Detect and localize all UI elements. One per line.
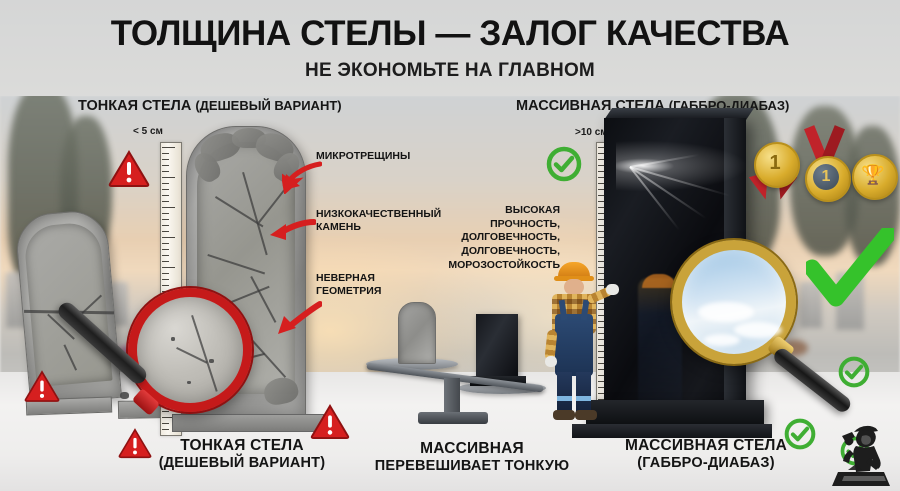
- ruler-tick: [162, 255, 169, 256]
- ruler-tick: [162, 423, 169, 424]
- mini-massive-monument: [476, 314, 518, 378]
- ruler-tick: [162, 237, 175, 238]
- scale-column: [444, 378, 460, 416]
- ruler-tick: [162, 249, 169, 250]
- boot: [553, 410, 575, 420]
- caption-right-line1: МАССИВНАЯ СТЕЛА: [578, 437, 834, 455]
- big-check-icon: [806, 228, 894, 314]
- balance-scale: [360, 300, 550, 430]
- left-heading-paren: (ДЕШЕВЫЙ ВАРИАНТ): [195, 98, 341, 113]
- arrow-icon: [276, 296, 322, 336]
- left-column-heading: ТОНКАЯ СТЕЛА (ДЕШЕВЫЙ ВАРИАНТ): [78, 98, 342, 114]
- caption-middle: МАССИВНАЯ ПЕРЕВЕШИВАЕТ ТОНКУЮ: [348, 440, 596, 474]
- medal-ribbon-number: 1: [813, 164, 839, 190]
- red-magnifier: [128, 288, 260, 420]
- caption-right: МАССИВНАЯ СТЕЛА (ГАББРО-ДИАБАЗ): [578, 437, 834, 471]
- ruler-tick: [162, 429, 169, 430]
- ruler-tick: [162, 177, 175, 178]
- benefits-text: ВЫСОКАЯ ПРОЧНОСТЬ, ДОЛГОВЕЧНОСТЬ, ДОЛГОВ…: [444, 204, 560, 272]
- arrow-icon: [282, 160, 322, 194]
- massive-monument-plinth: [572, 424, 772, 438]
- caption-left: ТОНКАЯ СТЕЛА (ДЕШЕВЫЙ ВАРИАНТ): [118, 437, 366, 471]
- award-medals: 1 1 🏆: [752, 140, 894, 214]
- warning-triangle-icon: [310, 404, 350, 440]
- defect-label-wrong-geometry: НЕВЕРНАЯ ГЕОМЕТРИЯ: [316, 272, 381, 299]
- warning-triangle-icon: [108, 150, 150, 188]
- ruler-tick: [162, 165, 169, 166]
- scale-foot: [418, 412, 488, 424]
- ruler-tick: [162, 195, 169, 196]
- worker-figure: [544, 262, 604, 422]
- defect-label-microcracks: МИКРОТРЕЩИНЫ: [316, 150, 410, 163]
- ruler-tick: [162, 207, 175, 208]
- worker-face: [564, 279, 584, 295]
- trophy-icon: 🏆: [852, 154, 894, 196]
- ruler-tick: [162, 213, 169, 214]
- work-glove: [545, 356, 557, 367]
- caption-right-line2: (ГАББРО-ДИАБАЗ): [578, 455, 834, 471]
- ruler-tick: [162, 201, 169, 202]
- infographic-canvas: ТОЛЩИНА СТЕЛЫ — ЗАЛОГ КАЧЕСТВА НЕ ЭКОНОМ…: [0, 0, 900, 491]
- caption-middle-line1: МАССИВНАЯ: [348, 440, 596, 458]
- ruler-tick: [162, 219, 169, 220]
- ruler-tick: [162, 183, 169, 184]
- ruler-tick: [162, 243, 169, 244]
- page-subtitle: НЕ ЭКОНОМЬТЕ НА ГЛАВНОМ: [0, 60, 900, 82]
- ruler-tick: [162, 153, 169, 154]
- ruler-tick: [162, 147, 175, 148]
- ruler-tick: [162, 285, 169, 286]
- overalls: [555, 314, 593, 376]
- left-heading-main: ТОНКАЯ СТЕЛА: [78, 98, 191, 114]
- caption-left-line1: ТОНКАЯ СТЕЛА: [118, 437, 366, 455]
- page-title: ТОЛЩИНА СТЕЛЫ — ЗАЛОГ КАЧЕСТВА: [0, 14, 900, 54]
- medal-rosette-number: 1: [754, 142, 796, 184]
- ruler-tick: [162, 225, 169, 226]
- caption-middle-line2: ПЕРЕВЕШИВАЕТ ТОНКУЮ: [348, 458, 596, 474]
- mini-thin-monument: [398, 302, 436, 364]
- massive-monument-base: [586, 400, 764, 426]
- stonemason-icon: [826, 420, 894, 486]
- work-glove: [606, 284, 619, 295]
- right-ruler-label: >10 см: [575, 127, 608, 138]
- ruler-tick: [162, 273, 169, 274]
- boot: [575, 410, 597, 420]
- warning-triangle-icon: [24, 370, 60, 403]
- ruler-tick: [162, 261, 169, 262]
- ruler-tick: [162, 171, 169, 172]
- check-circle-icon: [546, 146, 582, 182]
- ruler-tick: [162, 279, 169, 280]
- ruler-tick: [162, 231, 169, 232]
- check-circle-icon: [838, 356, 870, 388]
- ruler-tick: [162, 189, 169, 190]
- left-ruler-label: < 5 см: [133, 126, 163, 137]
- defect-label-low-quality-stone: НИЗКОКАЧЕСТВЕННЫЙ КАМЕНЬ: [316, 208, 441, 235]
- arrow-icon: [270, 216, 316, 244]
- caption-left-line2: (ДЕШЕВЫЙ ВАРИАНТ): [118, 455, 366, 471]
- ruler-tick: [162, 267, 175, 268]
- ruler-tick: [162, 159, 169, 160]
